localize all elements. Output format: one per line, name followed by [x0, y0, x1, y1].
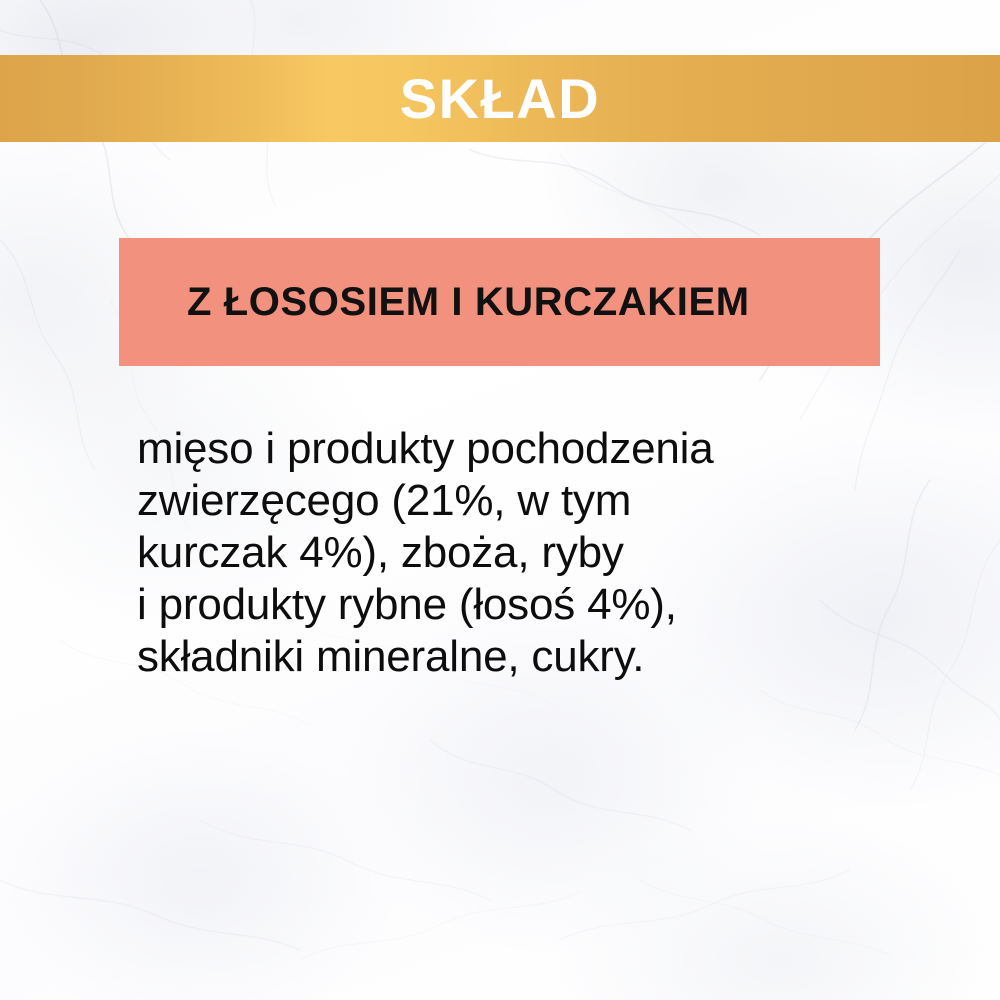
ingredients-line: składniki mineralne, cukry.: [137, 631, 917, 683]
variant-name-text: Z ŁOSOSIEM I KURCZAKIEM: [119, 282, 750, 322]
section-header-banner: SKŁAD: [0, 55, 1000, 142]
ingredients-line: mięso i produkty pochodzenia: [137, 423, 917, 475]
section-title: SKŁAD: [400, 71, 600, 127]
ingredients-line: zwierzęcego (21%, w tym: [137, 475, 917, 527]
ingredients-line: i produkty rybne (łosoś 4%),: [137, 579, 917, 631]
ingredients-line: kurczak 4%), zboża, ryby: [137, 527, 917, 579]
ingredients-text-block: mięso i produkty pochodzenia zwierzęcego…: [137, 423, 917, 683]
variant-name-banner: Z ŁOSOSIEM I KURCZAKIEM: [119, 238, 880, 366]
product-ingredients-panel: SKŁAD Z ŁOSOSIEM I KURCZAKIEM mięso i pr…: [0, 0, 1000, 1000]
